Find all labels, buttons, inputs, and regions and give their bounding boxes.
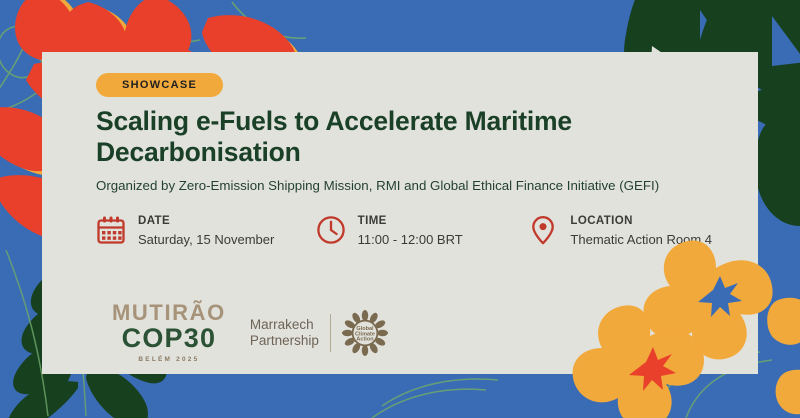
detail-time: TIME 11:00 - 12:00 BRT	[314, 210, 527, 251]
seal-line3: Action	[356, 336, 374, 342]
event-title: Scaling e-Fuels to Accelerate Maritime D…	[96, 106, 736, 168]
date-label: DATE	[138, 215, 170, 227]
global-climate-action-seal: Global Climate Action	[342, 310, 388, 356]
calendar-icon	[94, 213, 128, 247]
cop30-main-text: COP30	[112, 325, 226, 352]
time-value: 11:00 - 12:00 BRT	[358, 232, 463, 247]
time-label: TIME	[358, 215, 387, 227]
marrakech-partnership-logo: Marrakech Partnership	[250, 310, 388, 356]
event-details: DATE Saturday, 15 November TIME 11:00 - …	[94, 210, 754, 251]
clock-icon	[314, 213, 348, 247]
detail-date: DATE Saturday, 15 November	[94, 210, 314, 251]
logo-bar: MUTIRÃO COP30 BELÉM 2025 Marrakech Partn…	[112, 302, 388, 363]
cop30-logo: MUTIRÃO COP30 BELÉM 2025	[112, 302, 226, 363]
marrakech-line1: Marrakech	[250, 317, 319, 333]
map-pin-icon	[526, 213, 560, 247]
event-organizers: Organized by Zero-Emission Shipping Miss…	[96, 177, 756, 194]
orange-accent-shapes	[767, 298, 800, 415]
logo-divider	[330, 314, 331, 352]
location-label: LOCATION	[570, 215, 632, 227]
red-accent-shape	[0, 398, 46, 418]
cop30-belem-text: BELÉM 2025	[112, 356, 226, 363]
cop30-mutirao-text: MUTIRÃO	[112, 302, 226, 324]
event-poster: SHOWCASE Scaling e-Fuels to Accelerate M…	[0, 0, 800, 418]
marrakech-line2: Partnership	[250, 333, 319, 349]
showcase-badge: SHOWCASE	[96, 73, 223, 97]
date-value: Saturday, 15 November	[138, 232, 274, 247]
event-card: SHOWCASE Scaling e-Fuels to Accelerate M…	[42, 52, 758, 374]
detail-location: LOCATION Thematic Action Room 4	[526, 210, 754, 251]
location-value: Thematic Action Room 4	[570, 232, 712, 247]
